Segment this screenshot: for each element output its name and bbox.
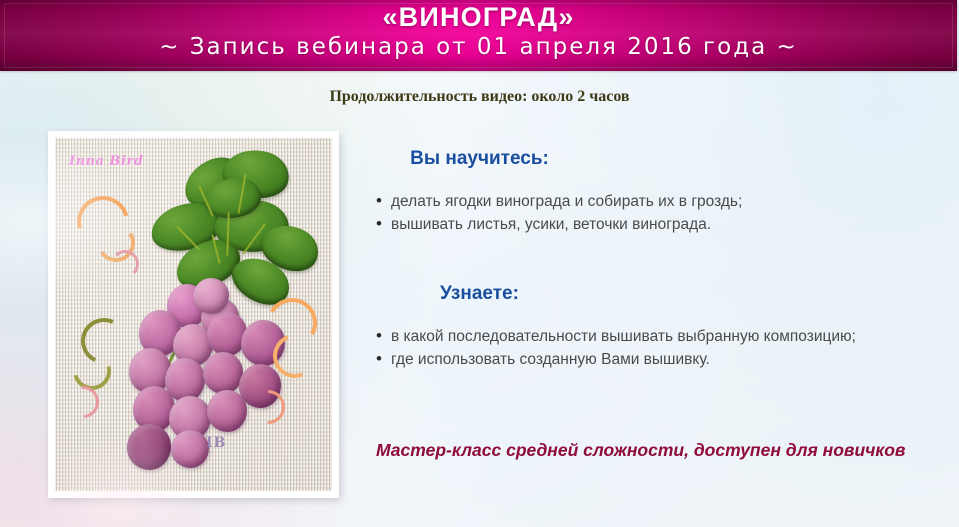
list-item: вышивать листья, усики, веточки виноград…: [374, 213, 742, 236]
banner-subtitle: ~ Запись вебинара от 01 апреля 2016 года…: [0, 34, 957, 60]
grape-berry: [127, 424, 171, 470]
know-list: в какой последовательности вышивать выбр…: [374, 325, 856, 371]
section-heading-know: Узнаете:: [0, 283, 959, 305]
list-item: где использовать созданную Вами вышивку.: [374, 348, 856, 371]
grape-berry: [203, 352, 243, 394]
list-item: в какой последовательности вышивать выбр…: [374, 325, 856, 348]
banner-title: «ВИНОГРАД»: [0, 2, 957, 33]
tendril-pink-left: [111, 250, 139, 278]
embroidery-photo: Inna Bird IB: [55, 138, 332, 491]
grape-berry: [171, 430, 209, 468]
learn-list: делать ягодки винограда и собирать их в …: [374, 190, 742, 236]
list-item: делать ягодки винограда и собирать их в …: [374, 190, 742, 213]
embroidery-photo-frame: Inna Bird IB: [48, 131, 339, 498]
section-heading-learn: Вы научитесь:: [0, 148, 959, 170]
video-duration-text: Продолжительность видео: около 2 часов: [0, 88, 959, 106]
difficulty-note: Мастер-класс средней сложности, доступен…: [376, 440, 906, 461]
page-root: «ВИНОГРАД» ~ Запись вебинара от 01 апрел…: [0, 0, 959, 527]
header-banner: «ВИНОГРАД» ~ Запись вебинара от 01 апрел…: [0, 0, 957, 71]
photo-signature: IB: [206, 435, 226, 451]
grape-berry: [207, 390, 247, 432]
